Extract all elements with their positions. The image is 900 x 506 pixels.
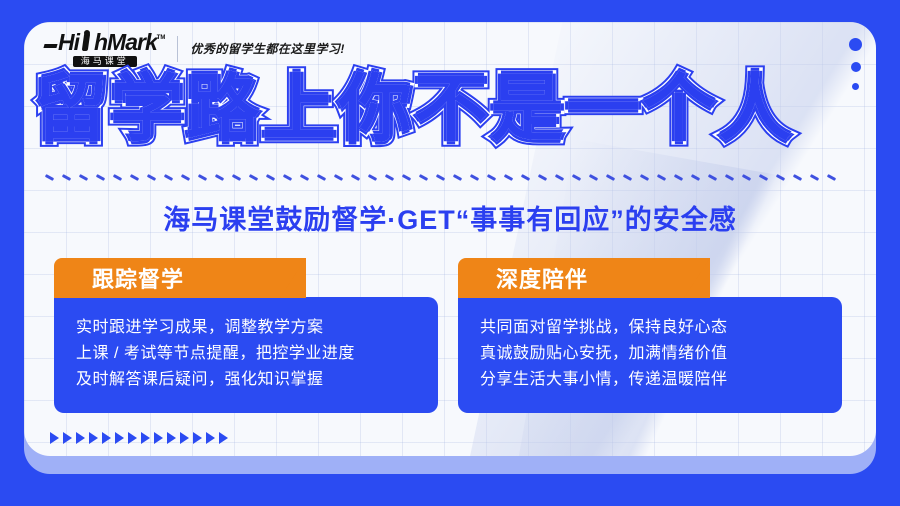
slash-mark-icon: [231, 174, 248, 186]
slash-mark-icon: [180, 174, 197, 186]
triangle-arrow-icon: [154, 432, 163, 444]
slash-mark-icon: [707, 174, 724, 186]
subtitle: 海马课堂鼓励督学·GET“事事有回应”的安全感: [0, 198, 900, 237]
slash-mark-icon: [95, 174, 112, 186]
triangle-arrow-icon: [128, 432, 137, 444]
slash-mark-icon: [520, 174, 537, 186]
slash-mark-icon: [112, 174, 129, 186]
slash-mark-icon: [367, 174, 384, 186]
triangle-arrow-icon: [167, 432, 176, 444]
triangle-arrow-icon: [180, 432, 189, 444]
slash-mark-icon: [78, 174, 95, 186]
slash-mark-icon: [758, 174, 775, 186]
slash-mark-icon: [384, 174, 401, 186]
card-line: 共同面对留学挑战，保持良好心态: [480, 315, 820, 341]
header-divider: [177, 36, 178, 62]
slash-mark-icon: [435, 174, 452, 186]
dot-large: [849, 38, 862, 51]
slash-mark-icon: [554, 174, 571, 186]
slash-mark-icon: [44, 174, 61, 186]
brand-tagline: 优秀的留学生都在这里学习!: [190, 40, 345, 57]
logo-prefix: Hi: [58, 31, 79, 54]
slash-mark-icon: [656, 174, 673, 186]
slash-mark-icon: [639, 174, 656, 186]
triangle-arrow-icon: [50, 432, 59, 444]
card-body: 实时跟进学习成果，调整教学方案 上课 / 考试等节点提醒，把控学业进度 及时解答…: [54, 297, 438, 413]
triangle-arrow-icon: [115, 432, 124, 444]
highmark-logo: Hi hMark TM 海马课堂: [44, 30, 165, 67]
triangle-arrow-icon: [193, 432, 202, 444]
slash-mark-icon: [792, 174, 809, 186]
slash-mark-icon: [809, 174, 826, 186]
logo-suffix: hMark: [94, 31, 157, 54]
slash-mark-icon: [724, 174, 741, 186]
card-header-wrap: 跟踪督学: [54, 258, 306, 298]
slash-mark-icon: [690, 174, 707, 186]
slash-mark-icon: [452, 174, 469, 186]
slash-mark-icon: [350, 174, 367, 186]
triangle-arrow-icon: [89, 432, 98, 444]
triangle-arrow-icon: [206, 432, 215, 444]
slash-mark-icon: [316, 174, 333, 186]
feature-cards: 跟踪督学 实时跟进学习成果，调整教学方案 上课 / 考试等节点提醒，把控学业进度…: [54, 258, 842, 413]
dot-medium: [851, 62, 861, 72]
card-title: 深度陪伴: [496, 262, 588, 294]
poster-root: Hi hMark TM 海马课堂 优秀的留学生都在这里学习! 留学路上你不是一个…: [0, 0, 900, 506]
card-tracking: 跟踪督学 实时跟进学习成果，调整教学方案 上课 / 考试等节点提醒，把控学业进度…: [54, 258, 438, 413]
slash-mark-icon: [163, 174, 180, 186]
slash-mark-icon: [503, 174, 520, 186]
slash-mark-icon: [282, 174, 299, 186]
card-line: 及时解答课后疑问，强化知识掌握: [76, 367, 416, 393]
logo-subbrand: 海马课堂: [73, 56, 137, 67]
card-header-angle: [248, 258, 306, 298]
page-title: 留学路上你不是一个人: [34, 72, 864, 146]
slash-mark-icon: [571, 174, 588, 186]
card-header: 深度陪伴: [458, 258, 710, 298]
triangle-arrow-icon: [63, 432, 72, 444]
logo-trademark: TM: [157, 35, 166, 41]
slash-mark-icon: [622, 174, 639, 186]
card-line: 真诚鼓励贴心安抚，加满情绪价值: [480, 341, 820, 367]
card-line: 上课 / 考试等节点提醒，把控学业进度: [76, 341, 416, 367]
slash-mark-icon: [605, 174, 622, 186]
triangle-arrow-icon: [141, 432, 150, 444]
slash-mark-icon: [673, 174, 690, 186]
slash-mark-icon: [248, 174, 265, 186]
triangle-arrow-icon: [102, 432, 111, 444]
card-header: 跟踪督学: [54, 258, 306, 298]
card-header-wrap: 深度陪伴: [458, 258, 710, 298]
card-header-angle: [652, 258, 710, 298]
slash-mark-icon: [469, 174, 486, 186]
card-title: 跟踪督学: [92, 262, 184, 294]
dashed-divider: [44, 174, 852, 186]
triangle-arrow-icon: [76, 432, 85, 444]
runner-icon: [79, 30, 94, 54]
slash-mark-icon: [826, 174, 843, 186]
card-companionship: 深度陪伴 共同面对留学挑战，保持良好心态 真诚鼓励贴心安抚，加满情绪价值 分享生…: [458, 258, 842, 413]
slash-mark-icon: [146, 174, 163, 186]
slash-mark-icon: [741, 174, 758, 186]
card-line: 分享生活大事小情，传递温暖陪伴: [480, 367, 820, 393]
slash-mark-icon: [537, 174, 554, 186]
card-line: 实时跟进学习成果，调整教学方案: [76, 315, 416, 341]
slash-mark-icon: [401, 174, 418, 186]
slash-mark-icon: [775, 174, 792, 186]
slash-mark-icon: [299, 174, 316, 186]
slash-mark-icon: [197, 174, 214, 186]
arrow-strip: [50, 432, 228, 444]
brand-header: Hi hMark TM 海马课堂 优秀的留学生都在这里学习!: [44, 30, 345, 67]
slash-mark-icon: [486, 174, 503, 186]
logo-wordmark: Hi hMark TM: [44, 30, 165, 54]
slash-mark-icon: [214, 174, 231, 186]
slash-mark-icon: [61, 174, 78, 186]
slash-mark-icon: [265, 174, 282, 186]
slash-mark-icon: [333, 174, 350, 186]
slash-mark-icon: [588, 174, 605, 186]
logo-dash-icon: [43, 44, 57, 48]
triangle-arrow-icon: [219, 432, 228, 444]
slash-mark-icon: [129, 174, 146, 186]
card-body: 共同面对留学挑战，保持良好心态 真诚鼓励贴心安抚，加满情绪价值 分享生活大事小情…: [458, 297, 842, 413]
slash-mark-icon: [418, 174, 435, 186]
